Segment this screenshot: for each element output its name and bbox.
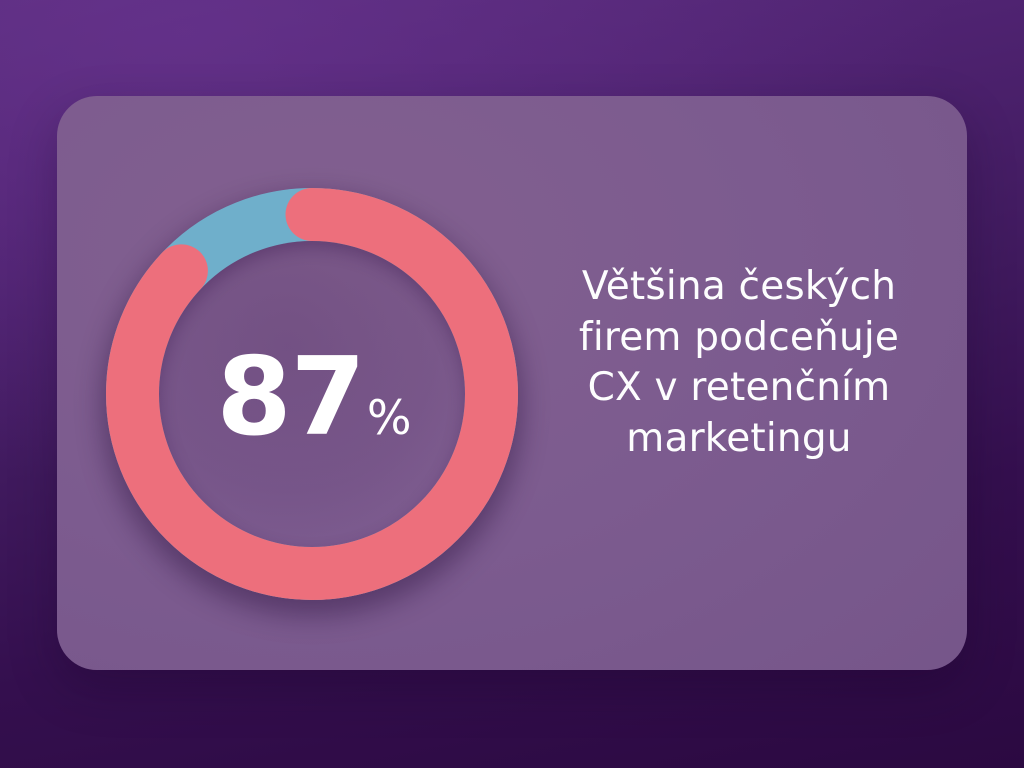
headline-line-1: Většina českých — [530, 262, 948, 313]
headline-line-4: marketingu — [530, 414, 948, 465]
headline-line-2: firem podceňuje — [530, 313, 948, 364]
headline-text: Většina českých firem podceňuje CX v ret… — [530, 262, 948, 465]
slide-canvas: 87 % Většina českých firem podceňuje CX … — [0, 0, 1024, 768]
headline-line-3: CX v retenčním — [530, 363, 948, 414]
percent-sign: % — [367, 395, 412, 442]
donut-chart: 87 % — [92, 166, 520, 602]
percentage-value: 87 — [217, 344, 365, 452]
donut-center-label: 87 % — [106, 188, 518, 600]
percentage-group: 87 % — [217, 344, 412, 452]
